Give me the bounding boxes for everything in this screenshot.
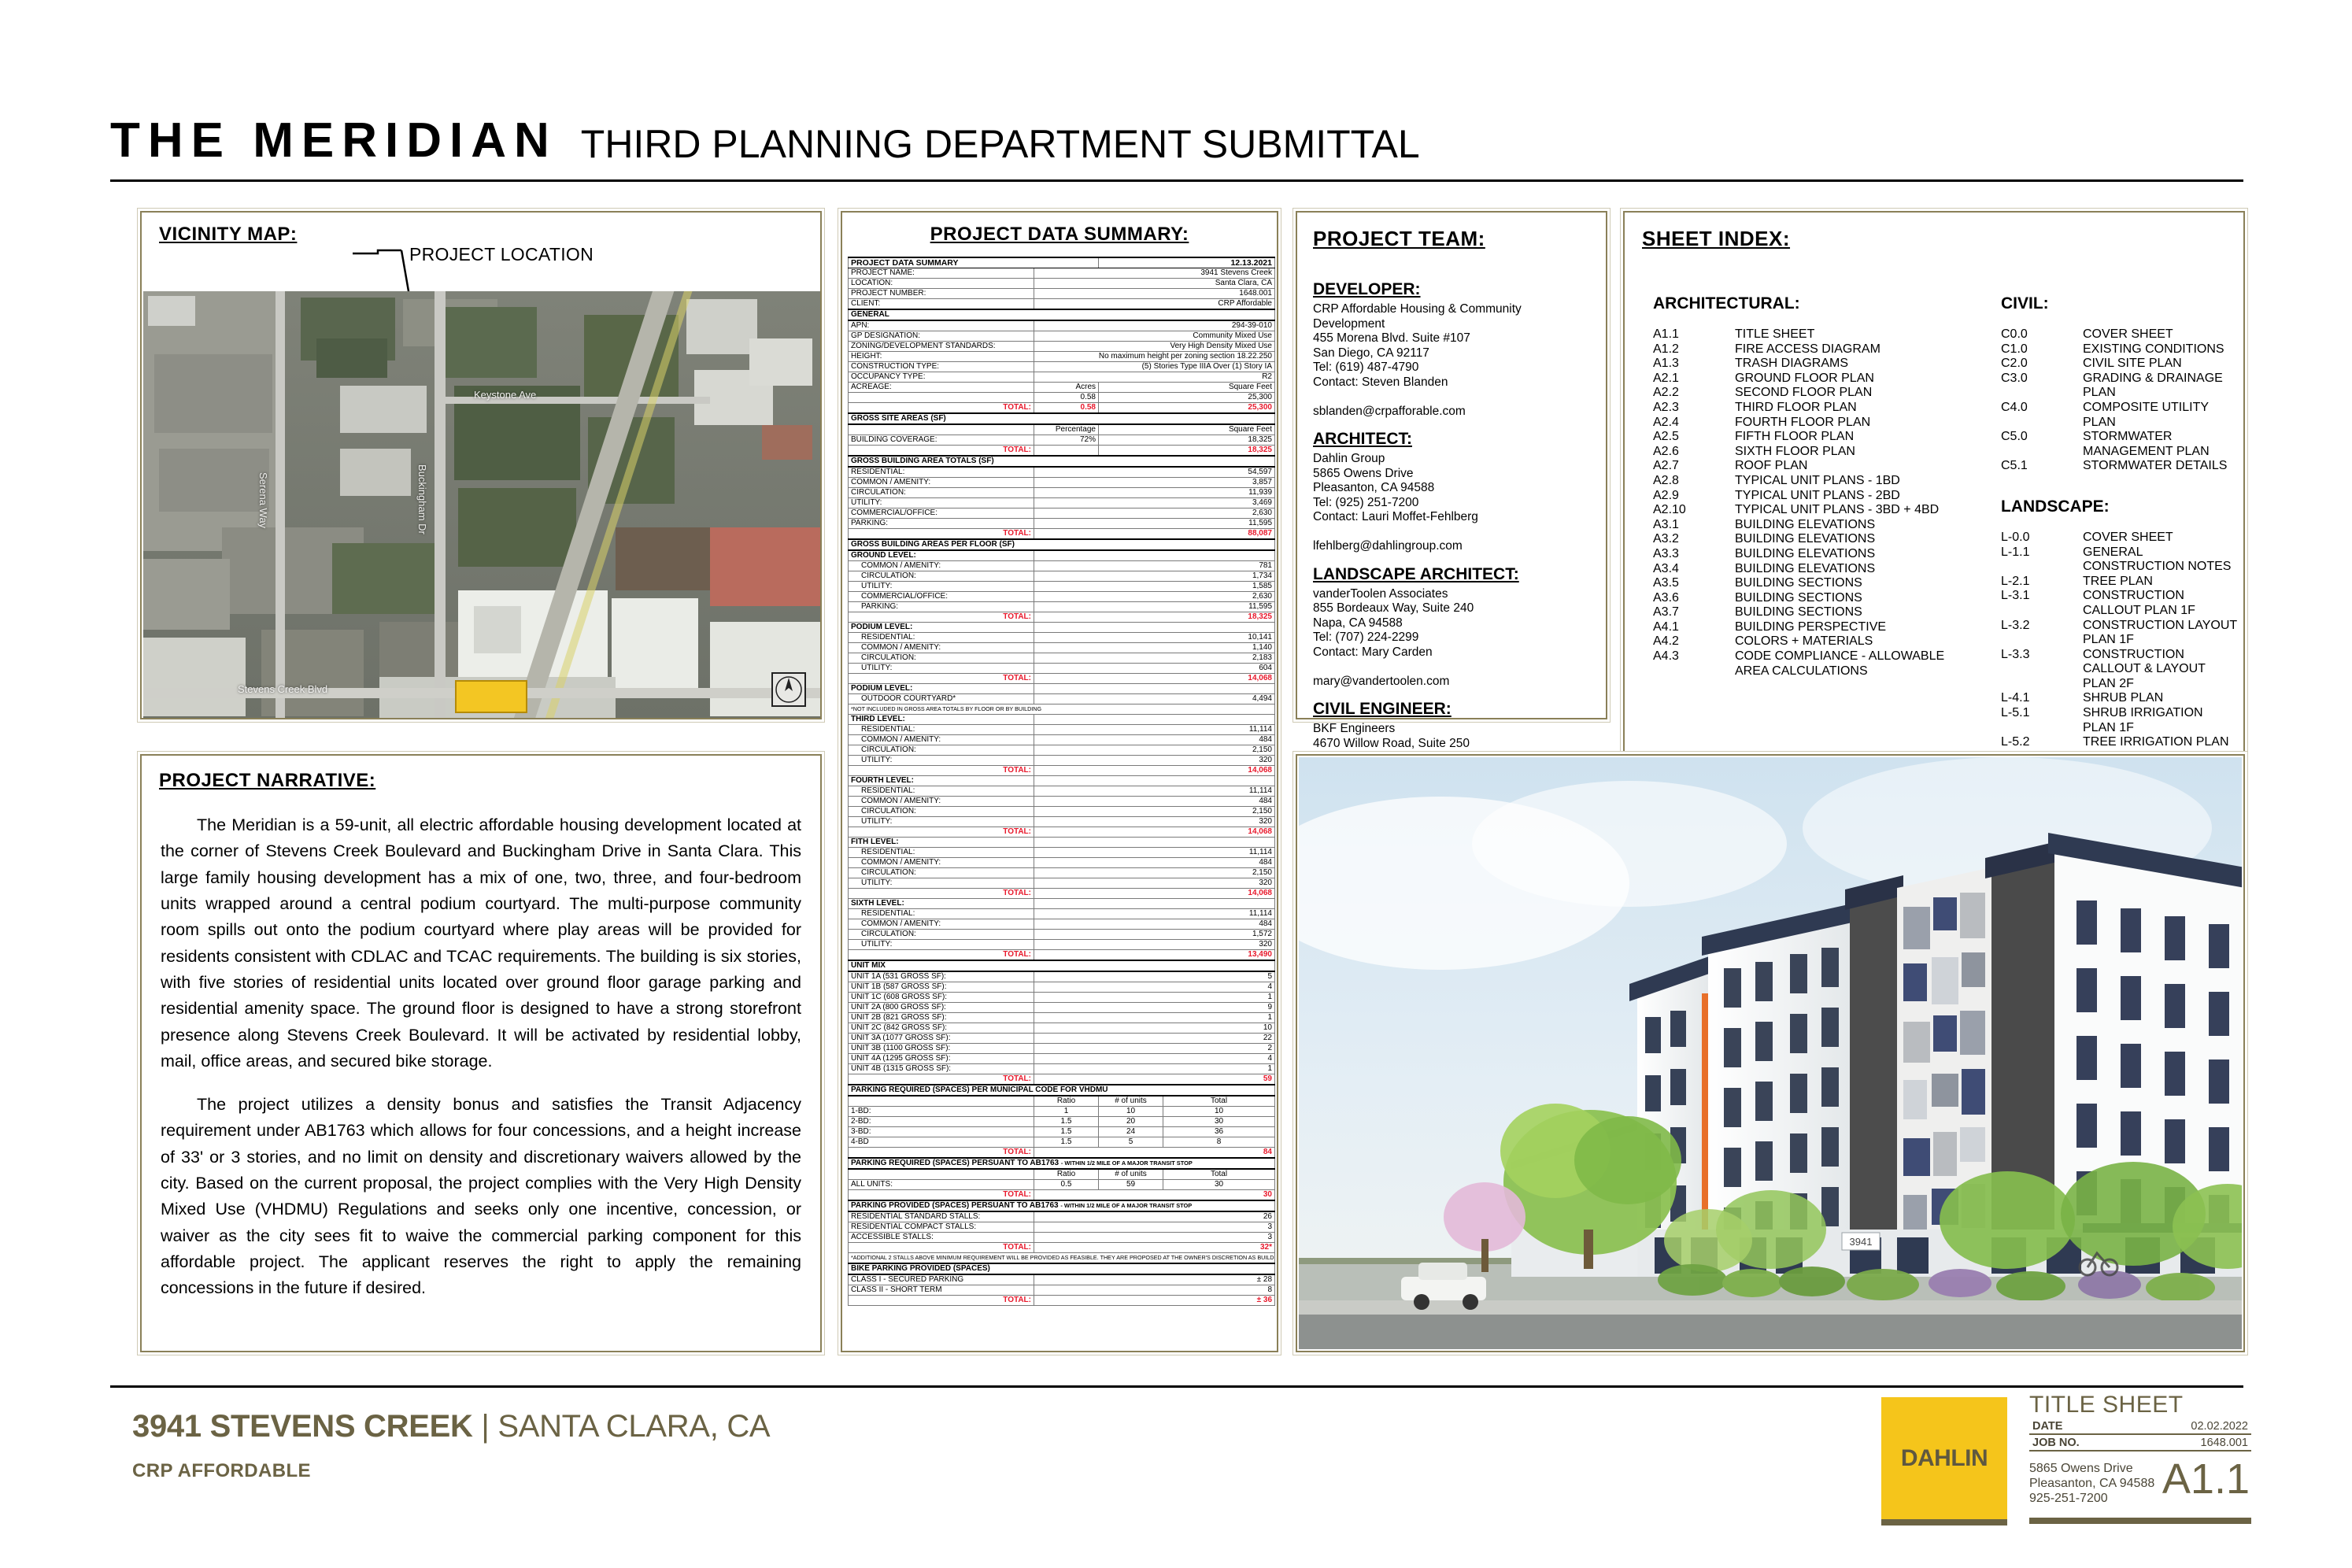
data-row: RESIDENTIAL: 10,141 [849, 633, 1275, 643]
data-row: BUILDING COVERAGE: 72% 18,325 [849, 435, 1275, 446]
data-total-value: 88,087 [1034, 529, 1275, 540]
sheet-number: A1.1 [2162, 1455, 2250, 1503]
sheet-index-number: A2.7 [1653, 459, 1735, 474]
sheet-index-number: A3.4 [1653, 562, 1735, 577]
data-row-total: 8 [1163, 1137, 1275, 1148]
data-row: TOTAL: 14,068 [849, 674, 1275, 684]
map-label-keystone: Keystone Ave [474, 389, 536, 401]
sheet-index-item-landscape[interactable]: L-2.1TREE PLAN [2001, 575, 2237, 590]
team-line: Contact: Steven Blanden [1313, 375, 1595, 390]
sheet-index-item-civil[interactable]: C5.1STORMWATER DETAILS [2001, 459, 2237, 474]
data-row: UTILITY: 604 [849, 664, 1275, 674]
data-row: SIXTH LEVEL: [849, 899, 1275, 909]
data-row-label: CIRCULATION: [849, 488, 1034, 498]
data-row-value: 8 [1034, 1285, 1275, 1296]
sheet-index-number: C5.0 [2001, 430, 2083, 459]
data-row-label: CIRCULATION: [849, 807, 1034, 817]
data-total-value: 13,490 [1034, 950, 1275, 961]
data-row: *NOT INCLUDED IN GROSS AREA TOTALS BY FL… [849, 704, 1275, 715]
data-row: UTILITY: 3,469 [849, 498, 1275, 508]
data-row-label: UNIT 2A (800 GROSS SF): [849, 1003, 1034, 1013]
sheet-index-item-architectural[interactable]: A3.2BUILDING ELEVATIONS [1653, 532, 1991, 547]
sheet-header: THE MERIDIAN THIRD PLANNING DEPARTMENT S… [110, 87, 2243, 165]
data-row-value: 1 [1034, 993, 1275, 1003]
sheet-index-name: BUILDING ELEVATIONS [1735, 518, 1991, 533]
data-row: TOTAL: 88,087 [849, 529, 1275, 540]
sheet-index-number: C5.1 [2001, 459, 2083, 474]
data-row: PARKING REQUIRED (SPACES) PERSUANT TO AB… [849, 1158, 1275, 1169]
team-line: Pleasanton, CA 94588 [1313, 481, 1595, 496]
data-row-label: COMMON / AMENITY: [849, 919, 1034, 930]
data-row-value: 11,595 [1034, 602, 1275, 612]
data-row: PARKING REQUIRED (SPACES) PER MUNICIPAL … [849, 1085, 1275, 1096]
project-narrative-panel: PROJECT NARRATIVE: The Meridian is a 59-… [140, 754, 822, 1352]
sheet-index-item-landscape[interactable]: L-1.1GENERAL CONSTRUCTION NOTES [2001, 545, 2237, 575]
data-row: CLIENT: CRP Affordable [849, 299, 1275, 310]
data-row-label: PARKING: [849, 519, 1034, 529]
data-total-label: TOTAL: [849, 827, 1034, 838]
data-row: RESIDENTIAL STANDARD STALLS: 26 [849, 1211, 1275, 1222]
sheet-index-number: L-3.2 [2001, 619, 2083, 648]
sheet-index-number: A2.8 [1653, 474, 1735, 489]
data-row-label: COMMERCIAL/OFFICE: [849, 508, 1034, 519]
data-row-value: 1 [1034, 1013, 1275, 1023]
data-row-label: UNIT 3B (1100 GROSS SF): [849, 1044, 1034, 1054]
sheet-index-item-landscape[interactable]: L-3.3CONSTRUCTION CALLOUT & LAYOUT [2001, 648, 2237, 677]
sheet-index-number: A3.7 [1653, 605, 1735, 620]
data-row-label: RESIDENTIAL STANDARD STALLS: [849, 1211, 1034, 1222]
project-data-summary-panel: PROJECT DATA SUMMARY: PROJECT DATA SUMMA… [841, 211, 1278, 1352]
data-row-label: UTILITY: [849, 582, 1034, 592]
data-row-value-2: Square Feet [1099, 383, 1275, 393]
data-row-ratio: Ratio [1034, 1096, 1099, 1107]
sheet-index-item-civil[interactable]: C4.0COMPOSITE UTILITY PLAN [2001, 401, 2237, 430]
team-group-gap [1313, 689, 1595, 700]
team-line: 455 Morena Blvd. Suite #107 [1313, 331, 1595, 346]
sheet-index-number: A4.1 [1653, 620, 1735, 635]
data-row-label: RESIDENTIAL: [849, 786, 1034, 797]
data-row-ratio: 0.5 [1034, 1180, 1099, 1190]
data-row: TOTAL: 14,068 [849, 827, 1275, 838]
sheet-index-number: C0.0 [2001, 327, 2083, 342]
data-total-value: 14,068 [1034, 766, 1275, 776]
project-narrative-body: The Meridian is a 59-unit, all electric … [161, 812, 801, 1319]
data-row-value: 320 [1034, 756, 1275, 766]
team-email[interactable]: sblanden@crpafforable.com [1313, 405, 1595, 420]
data-row-label: CIRCULATION: [849, 868, 1034, 878]
data-row-label: UTILITY: [849, 878, 1034, 889]
job-number-label: JOB NO. [2032, 1437, 2080, 1449]
data-row-label: CIRCULATION: [849, 653, 1034, 664]
vicinity-map-panel: VICINITY MAP: PROJECT LOCATION [140, 211, 822, 719]
sheet-index-item-architectural[interactable]: A2.9TYPICAL UNIT PLANS - 2BD [1653, 489, 1991, 504]
data-row-label [849, 393, 1034, 403]
sheet-index-name: GROUND FLOOR PLAN [1735, 372, 1991, 386]
sheet-index-item-architectural[interactable]: A2.8TYPICAL UNIT PLANS - 1BD [1653, 474, 1991, 489]
sheet-index-name: TITLE SHEET [1735, 327, 1991, 342]
data-row-value: 2,630 [1034, 508, 1275, 519]
sheet-index-number: C2.0 [2001, 357, 2083, 372]
sheet-index-item-civil[interactable]: C5.0STORMWATER MANAGEMENT PLAN [2001, 430, 2237, 459]
data-row: CIRCULATION: 2,150 [849, 807, 1275, 817]
data-row-label: COMMON / AMENITY: [849, 735, 1034, 745]
data-row-value: 10 [1034, 1023, 1275, 1034]
sheet-index-item-architectural[interactable]: A4.3CODE COMPLIANCE - ALLOWABLE [1653, 649, 1991, 664]
data-total-label: TOTAL: [849, 889, 1034, 899]
data-row-value: 12.13.2021 [1099, 257, 1275, 268]
data-row-label: UNIT 4B (1315 GROSS SF): [849, 1064, 1034, 1074]
data-row-label: PARKING: [849, 602, 1034, 612]
data-row: TOTAL: 18,325 [849, 612, 1275, 623]
sheet-index-item-landscape[interactable]: L-3.2CONSTRUCTION LAYOUT PLAN 1F [2001, 619, 2237, 648]
sheet-index-item-civil[interactable]: C0.0COVER SHEET [2001, 327, 2237, 342]
data-total-label: TOTAL: [849, 529, 1034, 540]
data-total-label: TOTAL: [849, 674, 1034, 684]
header-divider [110, 179, 2243, 182]
data-row-total: 30 [1163, 1180, 1275, 1190]
data-row-value: 604 [1034, 664, 1275, 674]
narrative-paragraph: The project utilizes a density bonus and… [161, 1092, 801, 1302]
sheet-index-item-architectural[interactable]: A1.2FIRE ACCESS DIAGRAM [1653, 342, 1991, 357]
data-row-value: R2 [1034, 372, 1275, 383]
project-data-table: PROJECT DATA SUMMARY 12.13.2021PROJECT N… [848, 257, 1275, 1306]
satellite-map-image: Keystone Ave Serena Way Buckingham Dr St… [143, 291, 820, 718]
data-row-label: PROJECT NAME: [849, 268, 1034, 279]
data-row: GROSS BUILDING AREA TOTALS (SF) [849, 456, 1275, 467]
sheet-index-item-architectural[interactable]: A3.5BUILDING SECTIONS [1653, 576, 1991, 591]
data-row-value: 1 [1034, 1064, 1275, 1074]
team-line [1313, 660, 1595, 675]
data-row-value: 11,114 [1034, 786, 1275, 797]
data-row: CIRCULATION: 1,734 [849, 571, 1275, 582]
data-row: COMMON / AMENITY: 1,140 [849, 643, 1275, 653]
data-row: 0.58 25,300 [849, 393, 1275, 403]
data-row: 2-BD: 1.5 20 30 [849, 1117, 1275, 1127]
data-row-label: CLIENT: [849, 299, 1034, 310]
data-total-label: TOTAL: [849, 403, 1034, 414]
data-section-label: UNIT MIX [849, 960, 1275, 971]
sheet-name: TITLE SHEET [2029, 1392, 2251, 1418]
data-row-value: 320 [1034, 817, 1275, 827]
data-row-label: PODIUM LEVEL: [849, 623, 1034, 633]
data-row: RESIDENTIAL: 11,114 [849, 725, 1275, 735]
project-title: THE MERIDIAN [110, 116, 557, 165]
data-row: GENERAL [849, 309, 1275, 320]
data-row-ratio: 1 [1034, 1107, 1099, 1117]
data-row-value: 320 [1034, 878, 1275, 889]
sheet-index-name: TREE PLAN [2083, 575, 2237, 590]
data-row: Percentage Square Feet [849, 424, 1275, 435]
team-line: 5865 Owens Drive [1313, 467, 1595, 482]
data-row-label: CLASS II - SHORT TERM [849, 1285, 1034, 1296]
sheet-index-name: GRADING & DRAINAGE PLAN [2083, 372, 2237, 401]
sheet-index-number: L-0.0 [2001, 531, 2083, 545]
sheet-index-name: CONSTRUCTION CALLOUT PLAN 1F [2083, 589, 2237, 618]
sheet-index-item-architectural[interactable]: A3.7BUILDING SECTIONS [1653, 605, 1991, 620]
sheet-index-item-architectural[interactable]: A1.3TRASH DIAGRAMS [1653, 357, 1991, 372]
data-row-value: 484 [1034, 735, 1275, 745]
sheet-index-item-landscape[interactable]: L-3.1CONSTRUCTION CALLOUT PLAN 1F [2001, 589, 2237, 618]
data-row-label: CIRCULATION: [849, 571, 1034, 582]
team-role-heading: LANDSCAPE ARCHITECT: [1313, 565, 1595, 584]
sheet-index-name: TYPICAL UNIT PLANS - 2BD [1735, 489, 1991, 504]
sheet-index-number: C1.0 [2001, 342, 2083, 357]
data-row-value: 2,150 [1034, 807, 1275, 817]
team-line: Contact: Lauri Moffet-Fehlberg [1313, 510, 1595, 525]
data-row: TOTAL: 18,325 [849, 446, 1275, 457]
north-arrow-icon [771, 672, 806, 707]
sheet-index-item-architectural[interactable]: A2.3THIRD FLOOR PLAN [1653, 401, 1991, 416]
title-block-separator: | [481, 1409, 489, 1444]
data-row-label: SIXTH LEVEL: [849, 899, 1034, 909]
data-row-value: 1,585 [1034, 582, 1275, 592]
data-row: PODIUM LEVEL: [849, 623, 1275, 633]
team-line: Contact: Mary Carden [1313, 645, 1595, 660]
data-row-value-1: Percentage [1034, 424, 1099, 435]
data-row-label: OCCUPANCY TYPE: [849, 372, 1034, 383]
data-row-value: 484 [1034, 858, 1275, 868]
sheet-index-number: A2.9 [1653, 489, 1735, 504]
sheet-index-name: FIRE ACCESS DIAGRAM [1735, 342, 1991, 357]
data-row: COMMON / AMENITY: 484 [849, 858, 1275, 868]
data-row-total: Total [1163, 1169, 1275, 1180]
sheet-index-name: SIXTH FLOOR PLAN [1735, 445, 1991, 460]
sheet-index-item-architectural[interactable]: A3.3BUILDING ELEVATIONS [1653, 547, 1991, 562]
title-block-address: 3941 STEVENS CREEK | SANTA CLARA, CA [132, 1409, 770, 1444]
sheet-index-name: SECOND FLOOR PLAN [1735, 386, 1991, 401]
data-row: TOTAL: ± 36 [849, 1296, 1275, 1306]
sheet-index-panel: SHEET INDEX: ARCHITECTURAL: A1.1TITLE SH… [1623, 211, 2245, 770]
sheet-index-item-architectural[interactable]: A2.4FOURTH FLOOR PLAN [1653, 416, 1991, 431]
data-row: CIRCULATION: 11,939 [849, 488, 1275, 498]
data-row: COMMON / AMENITY: 3,857 [849, 478, 1275, 488]
sheet-index-name: CONSTRUCTION LAYOUT PLAN 1F [2083, 619, 2237, 648]
sheet-index-name: BUILDING SECTIONS [1735, 576, 1991, 591]
sheet-index-item-civil[interactable]: C3.0GRADING & DRAINAGE PLAN [2001, 372, 2237, 401]
data-row-value: 4 [1034, 1054, 1275, 1064]
data-row-value: 5 [1034, 971, 1275, 982]
sheet-index-number: L-5.1 [2001, 706, 2083, 735]
data-row-value-2: 18,325 [1099, 435, 1275, 446]
data-row-value: 10,141 [1034, 633, 1275, 643]
data-row-label: COMMON / AMENITY: [849, 858, 1034, 868]
data-row-value: 11,114 [1034, 909, 1275, 919]
sheet-index-number: A3.5 [1653, 576, 1735, 591]
sheet-index-item-architectural[interactable]: A3.1BUILDING ELEVATIONS [1653, 518, 1991, 533]
sheet-index-number: L-2.1 [2001, 575, 2083, 590]
data-row: CONSTRUCTION TYPE: (5) Stories Type IIIA… [849, 362, 1275, 372]
data-row: TOTAL: 14,068 [849, 889, 1275, 899]
sheet-index-item-architectural[interactable]: A4.2COLORS + MATERIALS [1653, 634, 1991, 649]
data-row: TOTAL: 13,490 [849, 950, 1275, 961]
data-row-value: 4 [1034, 982, 1275, 993]
data-row: COMMON / AMENITY: 781 [849, 561, 1275, 571]
sheet-index-item-architectural[interactable]: A2.6SIXTH FLOOR PLAN [1653, 445, 1991, 460]
data-row-ratio: 1.5 [1034, 1127, 1099, 1137]
data-row-value: 3941 Stevens Creek [1034, 268, 1275, 279]
title-block-right: TITLE SHEET DATE 02.02.2022 JOB NO. 1648… [2029, 1392, 2251, 1506]
map-label-serena: Serena Way [257, 472, 269, 528]
data-row-label: UTILITY: [849, 498, 1034, 508]
data-row-ratio: 1.5 [1034, 1137, 1099, 1148]
data-total-value: 30 [1034, 1190, 1275, 1201]
data-total-value: 59 [1034, 1074, 1275, 1085]
sheet-index-item-civil[interactable]: C2.0CIVIL SITE PLAN [2001, 357, 2237, 372]
date-label: DATE [2032, 1420, 2062, 1433]
data-row-value: 2 [1034, 1044, 1275, 1054]
data-total-label: TOTAL: [849, 766, 1034, 776]
sheet-index-item-architectural[interactable]: A2.2SECOND FLOOR PLAN [1653, 386, 1991, 401]
team-line: Tel: (925) 251-7200 [1313, 496, 1595, 511]
data-row-units: 59 [1099, 1180, 1163, 1190]
team-email[interactable]: lfehlberg@dahlingroup.com [1313, 539, 1595, 554]
sheet-index-name: BUILDING SECTIONS [1735, 591, 1991, 606]
data-row: Ratio # of units Total [849, 1169, 1275, 1180]
data-row-label: GP DESIGNATION: [849, 331, 1034, 342]
data-row-label: CONSTRUCTION TYPE: [849, 362, 1034, 372]
data-row-value [1034, 715, 1275, 725]
data-total-value: 18,325 [1034, 612, 1275, 623]
data-row: GROUND LEVEL: [849, 550, 1275, 561]
sheet-index-number: L-3.1 [2001, 589, 2083, 618]
data-row-value: 22 [1034, 1034, 1275, 1044]
data-row-label: CIRCULATION: [849, 745, 1034, 756]
team-role-heading: DEVELOPER: [1313, 280, 1595, 299]
data-row: CLASS II - SHORT TERM 8 [849, 1285, 1275, 1296]
data-row-label: UTILITY: [849, 756, 1034, 766]
data-row-value-1: 0.58 [1034, 393, 1099, 403]
data-row: COMMON / AMENITY: 484 [849, 735, 1275, 745]
team-line: Dahlin Group [1313, 452, 1595, 467]
data-row-label: APN: [849, 320, 1034, 331]
sheet-index-item-landscape[interactable]: L-0.0COVER SHEET [2001, 531, 2237, 545]
sheet-index-item-architectural[interactable]: A2.10TYPICAL UNIT PLANS - 3BD + 4BD [1653, 503, 1991, 518]
data-row-label: FOURTH LEVEL: [849, 776, 1034, 786]
data-row: RESIDENTIAL: 11,114 [849, 848, 1275, 858]
data-row: TOTAL: 0.58 25,300 [849, 403, 1275, 414]
sheet-index-number: C3.0 [2001, 372, 2083, 401]
data-row-label: PODIUM LEVEL: [849, 684, 1034, 694]
sheet-index-name-continued: AREA CALCULATIONS [1653, 664, 1991, 679]
sheet-index-name: GENERAL CONSTRUCTION NOTES [2083, 545, 2237, 575]
sheet-index-item-architectural[interactable]: A1.1TITLE SHEET [1653, 327, 1991, 342]
data-row: BIKE PARKING PROVIDED (SPACES) [849, 1263, 1275, 1274]
sheet-index-item-architectural[interactable]: A2.5FIFTH FLOOR PLAN [1653, 430, 1991, 445]
data-row-label: RESIDENTIAL: [849, 725, 1034, 735]
data-row: *ADDITIONAL 2 STALLS ABOVE MINIMUM REQUI… [849, 1253, 1275, 1264]
data-row: PARKING PROVIDED (SPACES) PERSUANT TO AB… [849, 1200, 1275, 1211]
data-row-label [849, 1169, 1034, 1180]
sheet-index-item-landscape[interactable]: L-4.1SHRUB PLAN [2001, 691, 2237, 706]
narrative-paragraph: The Meridian is a 59-unit, all electric … [161, 812, 801, 1074]
data-row-label: ACCESSIBLE STALLS: [849, 1233, 1034, 1243]
sheet-index-item-architectural[interactable]: A2.7ROOF PLAN [1653, 459, 1991, 474]
data-row-value [1034, 550, 1275, 561]
sheet-index-number: A3.3 [1653, 547, 1735, 562]
data-row-value: (5) Stories Type IIIA Over (1) Story IA [1034, 362, 1275, 372]
data-row-value: 294-39-010 [1034, 320, 1275, 331]
data-total-value: 14,068 [1034, 827, 1275, 838]
map-label-buckingham: Buckingham Dr [416, 464, 428, 534]
data-total-value-1 [1034, 446, 1099, 457]
data-row-label: FITH LEVEL: [849, 838, 1034, 848]
sheet-index-item-architectural[interactable]: A3.6BUILDING SECTIONS [1653, 591, 1991, 606]
team-line: 4670 Willow Road, Suite 250 [1313, 737, 1595, 752]
sheet-index-number: A3.2 [1653, 532, 1735, 547]
building-rendering-panel: 3941 [1296, 754, 2245, 1352]
data-row-label: PROJECT DATA SUMMARY [849, 257, 1099, 268]
data-row-label: RESIDENTIAL: [849, 633, 1034, 643]
data-total-label: TOTAL: [849, 612, 1034, 623]
sheet-index-item-architectural[interactable]: A2.1GROUND FLOOR PLAN [1653, 372, 1991, 386]
data-row-value: 11,939 [1034, 488, 1275, 498]
sheet-index-civil-heading: CIVIL: [2001, 294, 2237, 313]
data-row-label: ACREAGE: [849, 383, 1034, 393]
data-row-label: UNIT 1B (587 GROSS SF): [849, 982, 1034, 993]
sheet-index-item-architectural[interactable]: A4.1BUILDING PERSPECTIVE [1653, 620, 1991, 635]
data-row-value [1034, 776, 1275, 786]
data-section-label: GROSS BUILDING AREA TOTALS (SF) [849, 456, 1275, 467]
team-line [1313, 525, 1595, 540]
data-row: HEIGHT: No maximum height per zoning sec… [849, 352, 1275, 362]
data-row: UNIT 2B (821 GROSS SF): 1 [849, 1013, 1275, 1023]
title-block-divider [110, 1385, 2243, 1388]
data-row-value: 54,597 [1034, 467, 1275, 478]
data-row: Ratio # of units Total [849, 1096, 1275, 1107]
sheet-index-number: A2.3 [1653, 401, 1735, 416]
data-row-label: 3-BD: [849, 1127, 1034, 1137]
team-line: Tel: (707) 224-2299 [1313, 631, 1595, 645]
sheet-index-number: L-4.1 [2001, 691, 2083, 706]
data-row-ratio: Ratio [1034, 1169, 1099, 1180]
data-row-label: PROJECT NUMBER: [849, 289, 1034, 299]
data-row-label: UNIT 3A (1077 GROSS SF): [849, 1034, 1034, 1044]
sheet-index-number: A2.5 [1653, 430, 1735, 445]
title-block-street: 3941 STEVENS CREEK [132, 1409, 473, 1444]
data-row: UNIT MIX [849, 960, 1275, 971]
data-row-label: RESIDENTIAL: [849, 467, 1034, 478]
data-row-value: 9 [1034, 1003, 1275, 1013]
data-row-value: 3,469 [1034, 498, 1275, 508]
data-row: GROSS SITE AREAS (SF) [849, 413, 1275, 424]
data-row: UTILITY: 1,585 [849, 582, 1275, 592]
data-row-value: 1,734 [1034, 571, 1275, 582]
building-address-sign: 3941 [1850, 1236, 1873, 1248]
sheet-index-landscape-heading: LANDSCAPE: [2001, 497, 2237, 516]
data-row-value: 2,150 [1034, 868, 1275, 878]
sheet-index-item-architectural[interactable]: A3.4BUILDING ELEVATIONS [1653, 562, 1991, 577]
sheet-index-item-civil[interactable]: C1.0EXISTING CONDITIONS [2001, 342, 2237, 357]
team-email[interactable]: mary@vandertoolen.com [1313, 675, 1595, 690]
data-row: RESIDENTIAL: 11,114 [849, 786, 1275, 797]
sheet-index-number: A1.1 [1653, 327, 1735, 342]
data-note: *NOT INCLUDED IN GROSS AREA TOTALS BY FL… [849, 704, 1275, 715]
sheet-index-name: EXISTING CONDITIONS [2083, 342, 2237, 357]
project-team-title: PROJECT TEAM: [1313, 227, 1485, 251]
team-group-gap [1313, 554, 1595, 565]
data-row-label: UTILITY: [849, 940, 1034, 950]
sheet-index-number: A2.6 [1653, 445, 1735, 460]
sheet-index-item-landscape[interactable]: L-5.1SHRUB IRRIGATION PLAN 1F [2001, 706, 2237, 735]
data-row: UTILITY: 320 [849, 817, 1275, 827]
data-row-value: 1,140 [1034, 643, 1275, 653]
data-row-total: 36 [1163, 1127, 1275, 1137]
data-row-label: COMMON / AMENITY: [849, 643, 1034, 653]
data-row-value: 2,630 [1034, 592, 1275, 602]
data-row-value [1034, 899, 1275, 909]
data-row: CIRCULATION: 2,150 [849, 868, 1275, 878]
data-row-units: # of units [1099, 1169, 1163, 1180]
